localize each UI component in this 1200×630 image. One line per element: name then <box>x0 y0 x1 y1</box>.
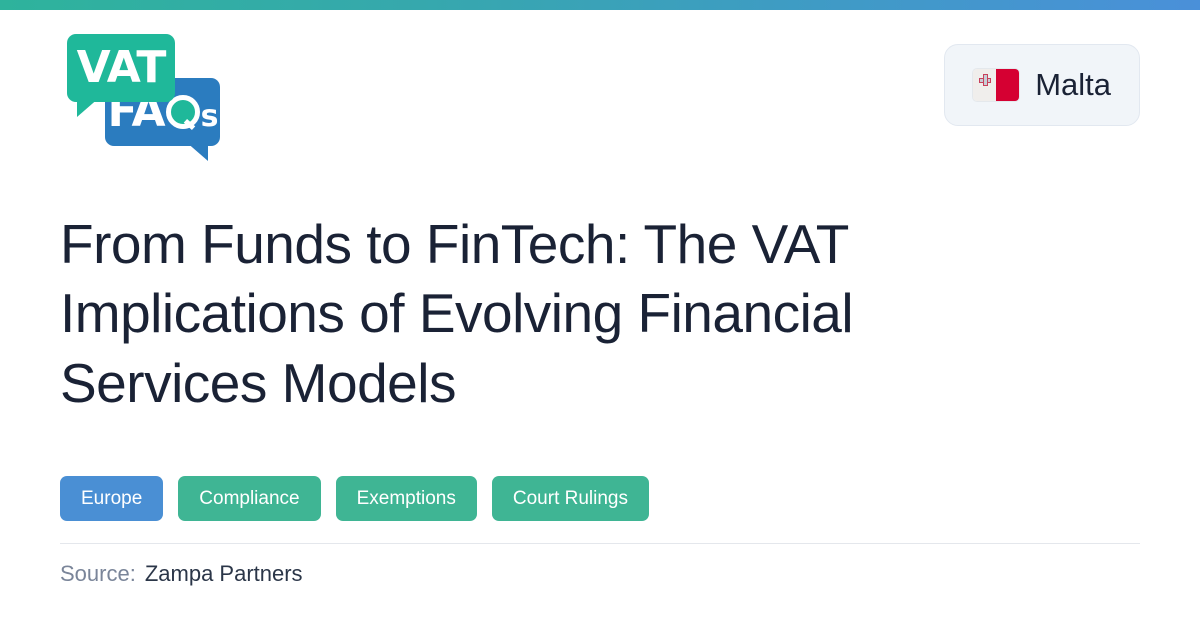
tag-court-rulings[interactable]: Court Rulings <box>492 476 649 521</box>
page-title: From Funds to FinTech: The VAT Implicati… <box>60 210 980 418</box>
cross-bar-vertical <box>983 74 988 86</box>
country-name-label: Malta <box>1035 67 1111 103</box>
card-header: VAT FA s Malta <box>0 10 1200 160</box>
logo-text-s: s <box>201 102 218 132</box>
gradient-accent-bar <box>0 0 1200 10</box>
speech-bubble-teal-icon: VAT <box>67 34 175 102</box>
flag-red-band <box>996 69 1019 101</box>
tag-exemptions[interactable]: Exemptions <box>336 476 477 521</box>
country-badge[interactable]: Malta <box>944 44 1140 126</box>
source-label: Source: <box>60 561 136 587</box>
george-cross-icon <box>979 74 991 86</box>
footer-divider <box>60 543 1140 544</box>
malta-flag-icon <box>973 69 1019 101</box>
vatfaqs-logo[interactable]: VAT FA s <box>60 30 225 140</box>
tag-europe[interactable]: Europe <box>60 476 163 521</box>
tag-compliance[interactable]: Compliance <box>178 476 320 521</box>
tag-list: Europe Compliance Exemptions Court Rulin… <box>60 476 649 521</box>
source-value[interactable]: Zampa Partners <box>145 561 303 587</box>
logo-text-vat: VAT <box>77 46 166 90</box>
share-card: VAT FA s Malta From Funds to <box>0 0 1200 630</box>
source-line: Source: Zampa Partners <box>60 561 303 587</box>
